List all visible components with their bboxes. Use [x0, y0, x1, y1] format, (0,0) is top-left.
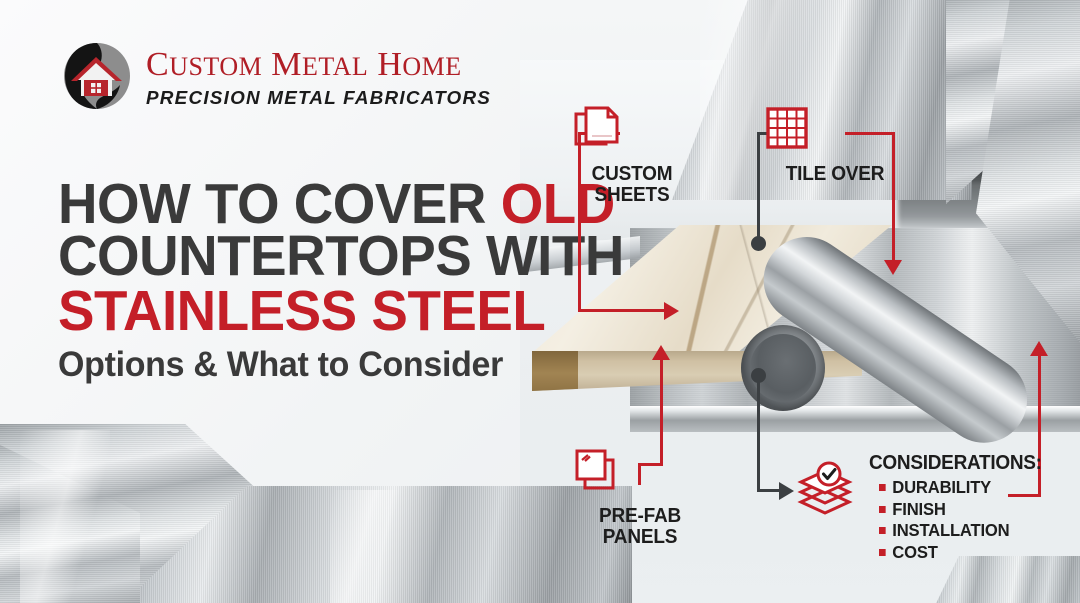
list-item-label: FINISH — [892, 499, 945, 521]
logo[interactable]: CUSTOM METAL HOME PRECISION METAL FABRIC… — [58, 36, 484, 116]
headline-line-1: HOW TO COVER OLD — [58, 178, 557, 230]
considerations-list: DURABILITY FINISH INSTALLATION COST — [869, 477, 1051, 563]
headline-block: HOW TO COVER OLD COUNTERTOPS WITH STAINL… — [58, 178, 578, 382]
bullet-icon — [879, 527, 886, 534]
list-item: DURABILITY — [879, 477, 1042, 499]
bullet-icon — [879, 549, 886, 556]
considerations-block[interactable]: CONSIDERATIONS: DURABILITY FINISH INSTAL… — [795, 452, 1051, 563]
custom-metal-home-house-logo — [58, 36, 136, 116]
list-item: INSTALLATION — [879, 520, 1042, 542]
headline-subtitle: Options & What to Consider — [58, 349, 562, 381]
list-item-label: INSTALLATION — [892, 520, 1009, 542]
callout-label-custom-sheets: CUSTOM SHEETS — [575, 164, 689, 206]
list-item-label: COST — [892, 542, 937, 564]
infographic-banner: CUSTOM METAL HOME PRECISION METAL FABRIC… — [0, 0, 1080, 603]
brand-name: CUSTOM METAL HOME — [146, 48, 484, 82]
callout-custom-sheets[interactable]: CUSTOM SHEETS — [572, 104, 692, 206]
callout-pre-fab-panels[interactable]: PRE-FAB PANELS — [570, 446, 710, 548]
brand-tagline: PRECISION METAL FABRICATORS — [146, 87, 491, 109]
overlapping-panels-icon — [570, 446, 710, 499]
headline-line-2: COUNTERTOPS WITH — [58, 230, 557, 282]
list-item: FINISH — [879, 499, 1042, 521]
slab-front-edge — [532, 351, 862, 391]
list-item-label: DURABILITY — [892, 477, 991, 499]
considerations-title: CONSIDERATIONS: — [869, 452, 1042, 475]
headline-line-3: STAINLESS STEEL — [58, 285, 557, 337]
callout-tile-over[interactable]: TILE OVER — [760, 104, 910, 185]
callout-label-pre-fab-panels: PRE-FAB PANELS — [574, 506, 707, 548]
tile-grid-icon — [760, 104, 910, 157]
bullet-icon — [879, 484, 886, 491]
callout-label-tile-over: TILE OVER — [764, 164, 907, 185]
stacked-sheets-icon — [572, 104, 692, 157]
list-item: COST — [879, 542, 1042, 564]
bullet-icon — [879, 506, 886, 513]
layered-stack-check-icon — [795, 460, 857, 527]
old-stone-countertop-slab — [532, 225, 892, 440]
